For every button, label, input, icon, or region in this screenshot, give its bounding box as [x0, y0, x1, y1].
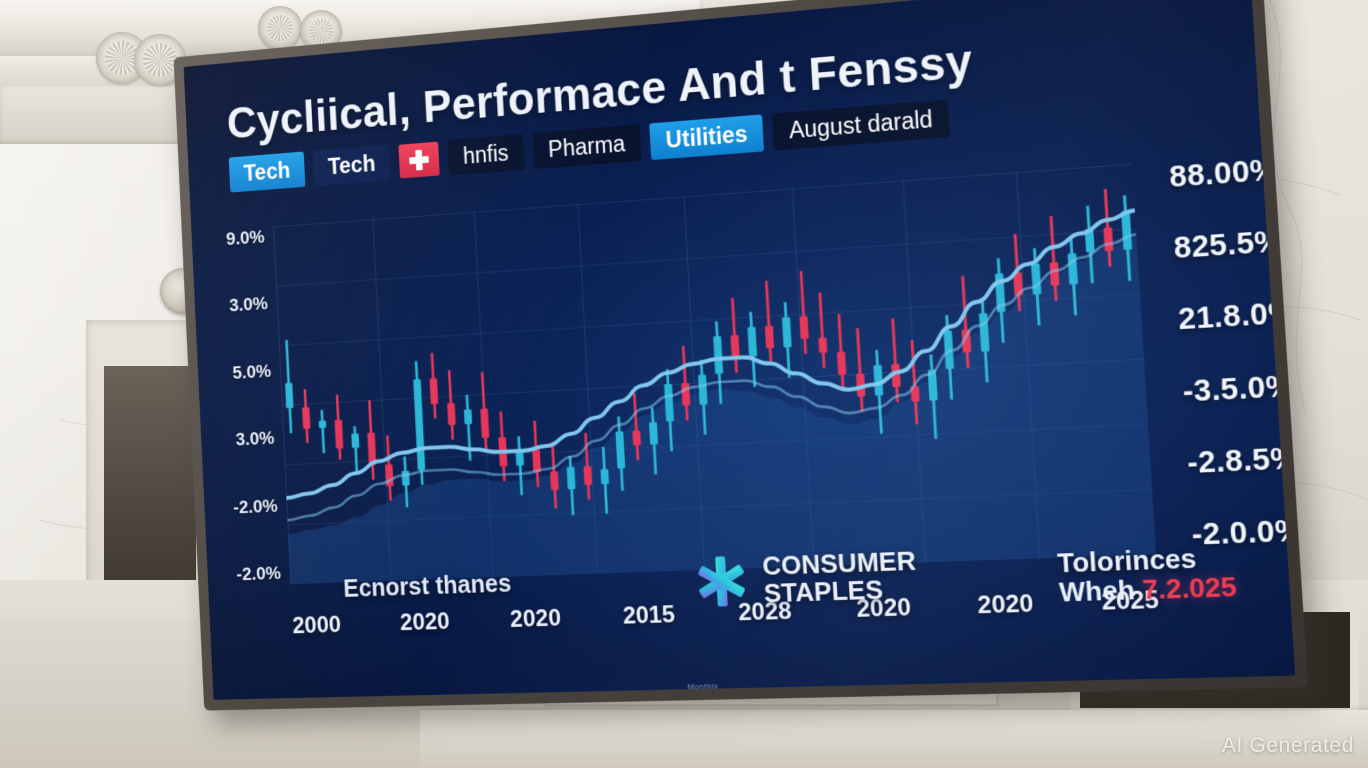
candle-body: [285, 383, 293, 408]
note-block: Tolorinces Wheh 7.2.025: [1057, 542, 1238, 608]
candle-body: [1031, 263, 1041, 294]
note-line-2: Wheh 7.2.025: [1058, 572, 1237, 608]
candle-wick: [856, 328, 864, 412]
candle-body: [600, 469, 609, 484]
candle-body: [1050, 262, 1060, 286]
note-line-2-text: Wheh: [1058, 574, 1135, 608]
y-axis-left-tick: 3.0%: [229, 294, 269, 317]
candle-body: [550, 471, 559, 490]
candle-wick: [818, 292, 825, 368]
chip-label: Pharma: [548, 133, 626, 162]
candle-body: [681, 383, 690, 406]
x-axis-tick: 2020: [977, 590, 1035, 621]
candle-body: [447, 403, 456, 425]
y-axis-right-tick: -3.5.0%: [1182, 369, 1295, 409]
chip-pharma[interactable]: Pharma: [532, 125, 642, 170]
rosette-ornament: [258, 6, 302, 50]
plus-icon: [409, 149, 429, 171]
billboard-screen: Cycliical, Performace And t Fenssy Tech …: [184, 0, 1296, 700]
x-axis-tick: 2015: [622, 601, 675, 631]
chip-august-darald[interactable]: August darald: [772, 100, 950, 151]
chart-plot-area: [273, 164, 1156, 585]
candle-body: [782, 317, 792, 348]
candle-body: [649, 422, 658, 445]
x-axis-tick: 2000: [292, 612, 342, 640]
chip-label: Utilities: [665, 123, 748, 152]
candle-body: [747, 327, 757, 357]
candle-body: [1103, 227, 1113, 251]
candle-body: [713, 336, 723, 374]
chip-label: August darald: [788, 108, 933, 143]
y-axis-right-tick: 21.8.0%: [1177, 296, 1295, 338]
candle-wick: [800, 271, 808, 354]
y-axis-right: 88.00%825.5%21.8.0%-3.5.0%-2.8.5%-2.0.0%: [1153, 154, 1282, 553]
note-value: 7.2.025: [1141, 571, 1237, 606]
candle-body: [413, 379, 425, 470]
candle-body: [698, 375, 708, 405]
sector-badge-text: CONSUMER STAPLES: [762, 547, 919, 608]
y-axis-left-tick: 9.0%: [226, 227, 266, 251]
candle-body: [319, 421, 327, 429]
asterisk-icon: [692, 552, 750, 610]
billboard-header: Cycliical, Performace And t Fenssy Tech …: [226, 14, 1226, 193]
candle-body: [351, 433, 359, 448]
x-axis-tick: 2020: [509, 605, 561, 634]
billboard: Cycliical, Performace And t Fenssy Tech …: [174, 0, 1309, 711]
candle-body: [402, 471, 410, 486]
chip-tech-secondary[interactable]: Tech: [313, 145, 391, 186]
chip-label: Tech: [243, 160, 291, 186]
candlestick-chart: [273, 164, 1156, 585]
candle-body: [464, 409, 472, 424]
candle-body: [837, 352, 846, 375]
y-axis-left-tick: 3.0%: [235, 428, 275, 451]
candle-body: [302, 407, 310, 429]
candle-body: [730, 335, 739, 358]
candle-body: [765, 326, 774, 349]
candle-body: [429, 378, 438, 404]
y-axis-right-tick: 88.00%: [1168, 153, 1279, 195]
sector-badge-consumer-staples: CONSUMER STAPLES: [692, 546, 918, 610]
candle-body: [583, 466, 592, 485]
candle-body: [480, 408, 489, 438]
candle-wick: [320, 410, 325, 453]
billboard-bezel: Cycliical, Performace And t Fenssy Tech …: [174, 0, 1309, 711]
chip-label: Tech: [328, 153, 376, 179]
chip-hnfis[interactable]: hnfis: [447, 134, 524, 176]
ai-generated-watermark: AI Generated: [1222, 734, 1354, 758]
doorway-opening: [104, 366, 196, 600]
chip-tech-primary[interactable]: Tech: [229, 152, 306, 193]
x-axis-tick: 2020: [399, 608, 450, 637]
y-axis-left-tick: -2.0%: [236, 563, 281, 586]
candle-body: [567, 467, 576, 490]
sector-line-2: STAPLES: [763, 575, 918, 608]
y-axis-left-tick: -2.0%: [233, 496, 278, 519]
y-axis-left-tick: 5.0%: [232, 361, 272, 384]
candle-wick: [891, 318, 899, 402]
y-axis-right-tick: 825.5%: [1173, 225, 1284, 267]
chip-health-plus[interactable]: [398, 142, 439, 179]
candle-body: [799, 316, 808, 339]
board-footnote: Monthly: [687, 681, 719, 691]
candle-body: [335, 420, 344, 449]
candle-wick: [353, 426, 358, 473]
chip-label: hnfis: [462, 142, 509, 168]
billboard-scene: Cycliical, Performace And t Fenssy Tech …: [0, 0, 1368, 768]
candle-wick: [765, 281, 772, 364]
candle-body: [818, 338, 827, 354]
chip-utilities[interactable]: Utilities: [649, 115, 764, 161]
y-axis-right-tick: -2.8.5%: [1186, 441, 1295, 481]
candle-body: [632, 430, 641, 445]
trend-annotation: Ecnorst thanes: [343, 570, 512, 604]
